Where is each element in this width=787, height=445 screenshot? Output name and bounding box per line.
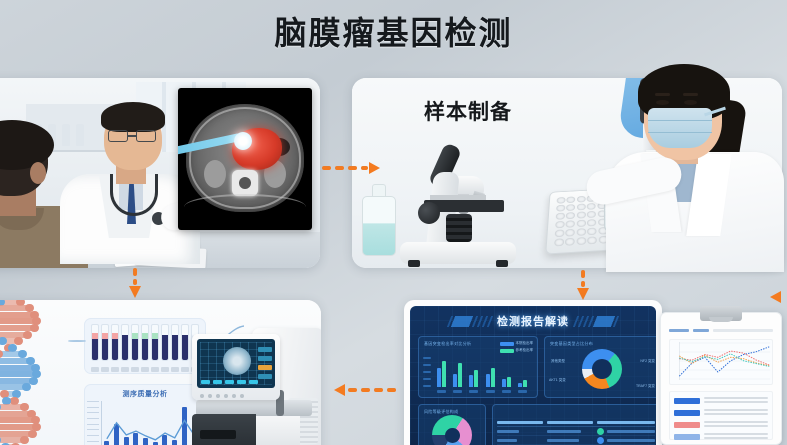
page-title: 脑膜瘤基因检测: [0, 8, 787, 54]
arrow-consultation-to-sequencing: [128, 268, 142, 300]
sample-prep-title: 样本制备: [424, 96, 512, 126]
doctor-figure: [64, 100, 194, 260]
bar-chart-title: 基因突变检出率对比分析: [424, 341, 471, 347]
arrow-edge-indicator: [770, 290, 787, 304]
gene-sequencer-machine: [192, 328, 321, 445]
spine-marker: [232, 170, 258, 196]
pie-chart-plot: [432, 415, 472, 445]
clipboard-legend: [669, 391, 773, 440]
table-row[interactable]: [497, 427, 655, 436]
sequencing-quality-chart: 测序质量分析: [84, 384, 206, 445]
dna-helix-icon: [0, 300, 70, 445]
panel-report-dashboard: 检测报告解读 基因突变检出率对比分析 本院检出率 参考检出率 突变基因类型占比分…: [404, 300, 662, 445]
clipboard-clip: [700, 306, 742, 321]
face-mask: [648, 108, 712, 148]
legend-label-0: 本院检出率: [516, 341, 534, 346]
arrow-sample-to-report: [576, 270, 590, 302]
bar-x-axis: [433, 390, 531, 393]
ct-scan-image: [178, 88, 312, 230]
infographic-canvas: 脑膜瘤基因检测: [0, 0, 787, 445]
table-row[interactable]: [497, 436, 655, 445]
bar-chart-plot: [433, 357, 531, 387]
header-decoration-left: [447, 316, 493, 327]
header-decoration-right: [573, 316, 619, 327]
card-donut-chart: 突变基因类型占比分布 其他类型 NF2 突变 AKT1 突变 TRAF7 突变: [544, 336, 656, 398]
status-leds: [200, 394, 244, 398]
donut-label-2: AKT1 突变: [549, 378, 566, 383]
sequencing-trend-line: [102, 401, 199, 445]
donut-chart-plot: [582, 349, 622, 389]
lab-technician-figure: [600, 56, 787, 270]
panel-sequencing: 测序质量分析: [0, 300, 321, 445]
donut-label-3: 其他类型: [551, 359, 565, 364]
pointer-tip-glow: [234, 132, 252, 150]
sample-tube-rack: [84, 318, 206, 374]
detail-table: [497, 418, 655, 445]
clipboard-legend-row: [674, 397, 768, 405]
microscope-icon: [400, 146, 520, 264]
card-detail-table: [492, 404, 656, 445]
connector-line-1: [68, 340, 86, 342]
panel-consultation: [0, 78, 320, 268]
donut-chart-title: 突变基因类型占比分布: [550, 341, 593, 347]
sequencer-display[interactable]: [197, 339, 275, 388]
arrow-report-to-sequencing: [334, 383, 398, 397]
clipboard-heading: [669, 329, 773, 332]
clipboard-line-chart: [669, 339, 773, 385]
card-bar-chart: 基因突变检出率对比分析 本院检出率 参考检出率: [418, 336, 538, 398]
donut-label-1: TRAF7 突变: [636, 384, 655, 389]
card-pie-chart: 风险等级评估构成: [418, 404, 486, 445]
report-clipboard: [660, 312, 782, 445]
dashboard-title: 检测报告解读: [497, 313, 569, 329]
arrow-consultation-to-sample: [322, 161, 382, 175]
dashboard-surface: 检测报告解读 基因突变检出率对比分析 本院检出率 参考检出率 突变基因类型占比分…: [410, 306, 656, 445]
legend-label-1: 参考检出率: [516, 348, 534, 353]
bar-y-axis: [423, 357, 432, 387]
clipboard-legend-row: [674, 409, 768, 417]
pie-chart-title: 风险等级评估构成: [424, 409, 458, 415]
dashboard-header: 检测报告解读: [410, 311, 656, 331]
bar-chart-legend: 本院检出率 参考检出率: [500, 341, 534, 353]
donut-label-0: NF2 突变: [640, 359, 655, 364]
clipboard-legend-row: [674, 421, 768, 429]
clipboard-legend-row: [674, 433, 768, 441]
reagent-bottle-icon: [362, 184, 396, 256]
sequencing-chart-title: 测序质量分析: [85, 389, 205, 399]
table-header-row: [497, 418, 655, 427]
